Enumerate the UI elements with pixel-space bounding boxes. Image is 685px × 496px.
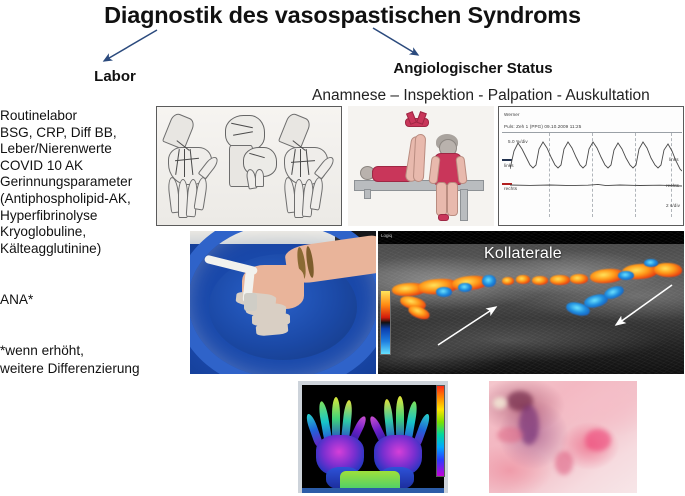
footnote-line: *wenn erhöht, [0,342,140,360]
arrow-to-labor [95,28,160,70]
page-title: Diagnostik des vasospastischen Syndroms [0,2,685,29]
thermography-color-scale [436,385,445,477]
ppg-trace [510,135,682,215]
lab-line: Routinelabor [0,108,175,125]
kollaterale-label: Kollaterale [484,245,562,263]
lab-line: Leber/Nierenwerte [0,141,175,158]
footnote: *wenn erhöht, weitere Differenzierung [0,342,140,377]
cold-water-test-image [190,231,376,374]
ultrasound-arrow-right [610,281,680,333]
ppg-recording-label: Puls: Zeh 1 (PPG) 09.10.2009 11:25 [504,124,581,129]
lab-line: BSG, CRP, Diff BB, [0,125,175,142]
thermography-taskbar [302,488,444,493]
lab-line: Kryoglobuline, [0,224,175,241]
ultrasound-corner-annotation: Logiq [381,233,392,238]
labor-heading: Labor [55,68,175,85]
lab-line: Gerinnungsparameter [0,174,175,191]
lab-parameter-list: Routinelabor BSG, CRP, Diff BB, Leber/Ni… [0,108,175,257]
footnote-line: weitere Differenzierung [0,360,140,378]
ultrasound-arrow-left [434,299,508,351]
duplex-ultrasound-image: Logiq Kollaterale [378,231,684,374]
sensor-clip [244,293,257,311]
lab-line: Hyperfibrinolyse [0,208,175,225]
angiologischer-status-subheading: Anamnese – Inspektion - Palpation - Ausk… [312,87,682,105]
capillaroscopy-image [489,381,637,493]
ppg-waveform-image: Werner Puls: Zeh 1 (PPG) 09.10.2009 11:2… [498,106,684,226]
color-scale-bar [380,290,391,355]
thermography-image [298,381,448,493]
angiologischer-status-heading: Angiologischer Status [378,60,568,77]
lab-line: Kälteagglutinine) [0,241,175,258]
allen-test-image [156,106,342,226]
ana-label: ANA* [0,292,33,307]
lab-line: COVID 10 AK [0,158,175,175]
ratschow-test-image [348,106,494,226]
lab-line: (Antiphospholipid-AK, [0,191,175,208]
ppg-patient-name: Werner [504,112,520,117]
